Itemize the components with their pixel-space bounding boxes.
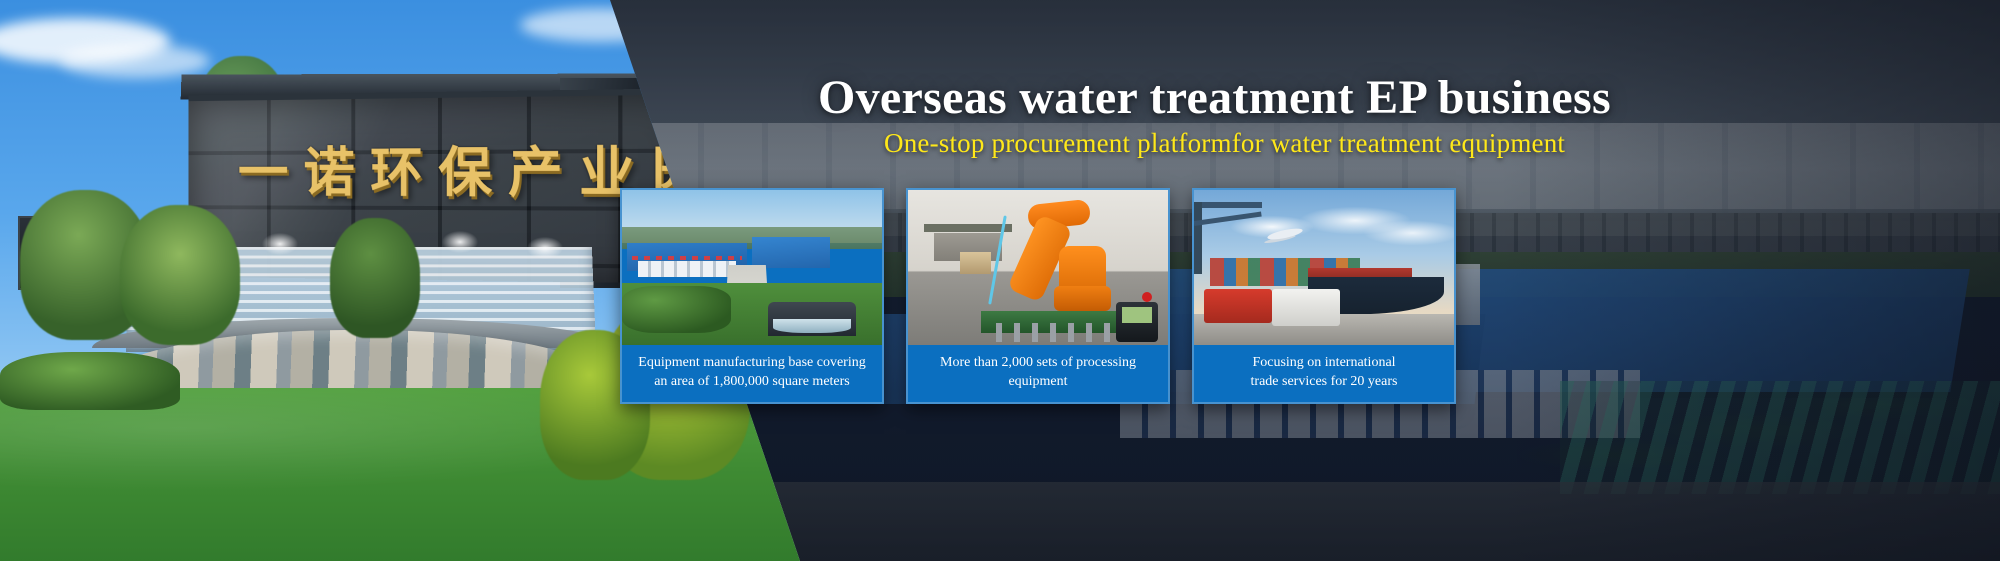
photo-blue-warehouse-right bbox=[752, 237, 830, 268]
photo-white-truck bbox=[1272, 289, 1340, 326]
tree bbox=[120, 205, 240, 345]
cloud bbox=[60, 44, 210, 78]
card-caption: More than 2,000 sets of processing equip… bbox=[908, 345, 1168, 402]
feature-card-processing-equipment[interactable]: More than 2,000 sets of processing equip… bbox=[906, 188, 1170, 404]
hedge bbox=[0, 352, 180, 410]
card-caption: Equipment manufacturing base covering an… bbox=[622, 345, 882, 402]
feature-card-manufacturing-base[interactable]: Equipment manufacturing base covering an… bbox=[620, 188, 884, 404]
tree bbox=[330, 218, 420, 338]
banner-headline: Overseas water treatment EP business bbox=[818, 72, 1611, 125]
photo-carton bbox=[960, 252, 991, 274]
photo-red-truck bbox=[1204, 289, 1272, 323]
photo-robot-base bbox=[1054, 286, 1111, 311]
card-photo-robot-arm bbox=[908, 190, 1168, 345]
card-photo-factory-campus bbox=[622, 190, 882, 345]
photo-conveyor-rails bbox=[996, 323, 1126, 342]
feature-card-international-trade[interactable]: Focusing on international trade services… bbox=[1192, 188, 1456, 404]
photo-entrance-monument bbox=[768, 302, 856, 336]
photo-emergency-stop-button bbox=[1142, 292, 1152, 302]
photo-office-windows bbox=[638, 261, 737, 277]
feature-card-list: Equipment manufacturing base covering an… bbox=[620, 188, 1456, 404]
banner-subheadline: One-stop procurement platformfor water t… bbox=[884, 128, 1565, 159]
photo-shelf bbox=[924, 224, 1012, 232]
photo-control-pendant bbox=[1116, 302, 1158, 342]
photo-shrubs bbox=[622, 286, 731, 333]
card-caption: Focusing on international trade services… bbox=[1194, 345, 1454, 402]
hero-banner: 一诺环保产业园 Overseas water treatment EP busi… bbox=[0, 0, 2000, 561]
card-photo-port-logistics bbox=[1194, 190, 1454, 345]
